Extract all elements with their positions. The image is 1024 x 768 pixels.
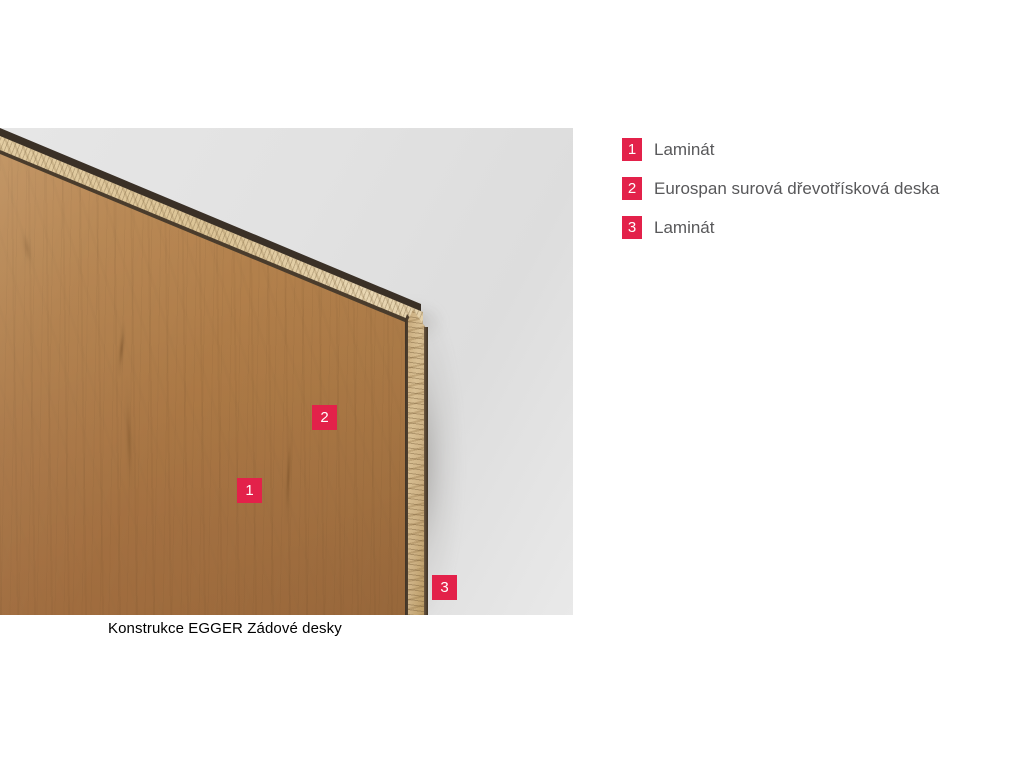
legend-badge-3: 3	[622, 216, 642, 239]
legend: 1 Laminát 2 Eurospan surová dřevotřískov…	[622, 133, 1022, 250]
legend-badge-1: 1	[622, 138, 642, 161]
legend-label-3: Laminát	[654, 218, 714, 238]
legend-label-1: Laminát	[654, 140, 714, 160]
callout-marker-2: 2	[312, 405, 337, 430]
legend-label-2: Eurospan surová dřevotřísková deska	[654, 179, 939, 199]
legend-item-1: 1 Laminát	[622, 133, 1022, 166]
legend-badge-2: 2	[622, 177, 642, 200]
callout-marker-1: 1	[237, 478, 262, 503]
product-illustration: 1 2 3	[0, 128, 573, 615]
figure-caption: Konstrukce EGGER Zádové desky	[108, 620, 342, 637]
legend-item-2: 2 Eurospan surová dřevotřísková deska	[622, 172, 1022, 205]
callout-marker-3: 3	[432, 575, 457, 600]
legend-item-3: 3 Laminát	[622, 211, 1022, 244]
right-edge-laminate-line-right	[424, 327, 428, 615]
